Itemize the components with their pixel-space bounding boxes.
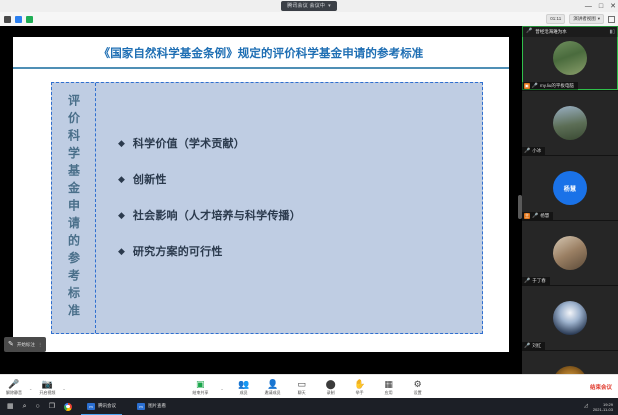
avatar	[553, 236, 587, 270]
avatar	[553, 301, 587, 335]
minimize-button[interactable]: —	[585, 3, 592, 10]
annotate-label: 开始标注	[17, 342, 35, 348]
mic-muted-icon: 🎤	[532, 84, 538, 89]
maximize-button[interactable]: □	[599, 3, 603, 10]
list-item: ◆ 科学价值（学术贡献）	[118, 135, 301, 151]
presentation-slide: 《国家自然科学基金条例》规定的评价科学基金申请的参考标准 评价科学基金申请的参考…	[13, 37, 509, 352]
list-item: ◆ 研究方案的可行性	[118, 243, 301, 259]
participant-tile[interactable]: 杨慧 主 🎤 杨慧	[522, 156, 618, 220]
mic-muted-icon: 🎤	[524, 279, 530, 284]
raise-hand-label: 举手	[356, 390, 364, 395]
members-label: 成员	[240, 390, 248, 395]
meeting-timer: 01:11	[546, 14, 565, 24]
more-dots-icon[interactable]: ⋮	[38, 342, 43, 348]
invite-icon: 👤	[267, 379, 278, 389]
participant-tile[interactable]: 🎤 曾经沧海难为水 ▮▯ ▣ 🎤 my.liu的平板电脑	[522, 26, 618, 90]
bullet-text: 研究方案的可行性	[133, 243, 223, 259]
participant-panel[interactable]: 🎤 曾经沧海难为水 ▮▯ ▣ 🎤 my.liu的平板电脑 🎤 小冰 杨慧 主 🎤	[522, 26, 618, 374]
mic-muted-icon: 🎤	[526, 29, 532, 34]
network-icon[interactable]: ◿	[584, 404, 588, 409]
chevron-up-icon[interactable]: ⌃	[62, 388, 65, 393]
members-button[interactable]: 👥 成员	[235, 379, 253, 395]
app-icon: m	[87, 403, 95, 410]
list-item: ◆ 创新性	[118, 171, 301, 187]
system-tray: ◿ 19:29 2021-11-03	[584, 402, 618, 412]
slide-content-box: 评价科学基金申请的参考标准 ◆ 科学价值（学术贡献） ◆ 创新性 ◆ 社会影响（…	[51, 82, 483, 334]
avatar	[553, 366, 587, 374]
settings-label: 设置	[414, 390, 422, 395]
task-view-icon[interactable]: ❐	[49, 403, 55, 410]
participant-name: 小冰	[532, 148, 541, 154]
host-badge: 主	[524, 213, 530, 219]
vertical-label-text: 评价科学基金申请的参考标准	[68, 94, 80, 322]
invite-button[interactable]: 👤 邀请成员	[264, 379, 282, 395]
windows-start-icon[interactable]: ▦	[7, 403, 14, 410]
view-mode-selector[interactable]: 演讲者视图 ▾	[569, 14, 604, 24]
mic-muted-icon: 🎤	[532, 214, 538, 219]
participant-name: 杨慧	[540, 213, 549, 219]
fullscreen-icon[interactable]	[608, 16, 615, 23]
camera-toggle-label: 开启视频	[39, 390, 55, 395]
participant-sub-name: my.liu的平板电脑	[540, 83, 574, 89]
diamond-bullet-icon: ◆	[118, 211, 125, 220]
participant-tile[interactable]: 🎤 于丁春	[522, 221, 618, 285]
taskbar-app-label: 腾讯会议	[98, 403, 116, 409]
signal-bars-icon: ▮▯	[609, 29, 615, 35]
apps-icon: ▦	[384, 379, 393, 389]
raise-hand-button[interactable]: ✋ 举手	[351, 379, 369, 395]
share-screen-label: 结束共享	[192, 390, 208, 395]
toolbar-center-group: ▣ 结束共享 ⌃ 👥 成员 👤 邀请成员 ▭ 聊天 ⬤ 录制 ✋ 举	[191, 375, 426, 399]
chevron-down-icon[interactable]: ▾	[328, 2, 331, 10]
title-divider	[13, 67, 509, 69]
share-badge: ▣	[524, 83, 530, 89]
participant-footer: 🎤 刘红	[522, 342, 545, 350]
meeting-meta-bar: 01:11 演讲者视图 ▾	[0, 12, 618, 27]
apps-label: 应用	[385, 390, 393, 395]
shared-screen-stage: 《国家自然科学基金条例》规定的评价科学基金申请的参考标准 评价科学基金申请的参考…	[0, 26, 522, 374]
more-icon: ⚙	[414, 379, 422, 389]
tray-clock[interactable]: 19:29 2021-11-03	[593, 402, 613, 412]
gear-icon[interactable]	[4, 16, 11, 23]
share-screen-button[interactable]: ▣ 结束共享	[191, 379, 209, 395]
mic-muted-icon: 🎤	[8, 379, 19, 389]
record-label: 录制	[327, 390, 335, 395]
meeting-window: 腾讯会议 会议中 ▾ — □ ✕ 01:11 演讲者视图 ▾ 《国家自然	[0, 0, 618, 415]
participant-name: 于丁春	[532, 278, 546, 284]
taskbar-app-viewer[interactable]: m 图片查看	[131, 398, 172, 415]
meta-left-icons	[4, 12, 33, 26]
window-title-bar: 腾讯会议 会议中 ▾ — □ ✕	[0, 0, 618, 12]
mic-toggle-button[interactable]: 🎤 解除静音	[5, 379, 23, 395]
participant-footer: ▣ 🎤 my.liu的平板电脑	[522, 82, 578, 90]
window-controls: — □ ✕	[585, 0, 616, 12]
apps-button[interactable]: ▦ 应用	[380, 379, 398, 395]
mic-muted-icon: 🎤	[524, 344, 530, 349]
members-icon: 👥	[238, 379, 249, 389]
info-icon[interactable]	[15, 16, 22, 23]
app-icon: m	[137, 403, 145, 410]
diamond-bullet-icon: ◆	[118, 247, 125, 256]
chat-label: 聊天	[298, 390, 306, 395]
windows-taskbar: ▦ ⌕ ○ ❐ m 腾讯会议 m 图片查看 ◿ 19:29 2021-11-03	[0, 398, 618, 415]
close-button[interactable]: ✕	[610, 3, 616, 10]
toolbar-left-group: 🎤 解除静音 ⌃ 📷 开启视频 ⌃	[5, 375, 66, 399]
taskbar-app-meeting[interactable]: m 腾讯会议	[81, 398, 122, 415]
participant-footer: 🎤 于丁春	[522, 277, 550, 285]
taskbar-app-label: 图片查看	[148, 403, 166, 409]
pen-icon: ✎	[8, 341, 14, 348]
bullet-text: 科学价值（学术贡献）	[133, 135, 245, 151]
meta-right-controls: 01:11 演讲者视图 ▾	[546, 12, 615, 26]
participant-tile[interactable]: 🎤 小冰	[522, 91, 618, 155]
bullet-text: 创新性	[133, 171, 167, 187]
camera-muted-icon: 📷	[42, 379, 53, 389]
participant-name: 曾经沧海难为水	[535, 29, 567, 35]
signal-icon[interactable]	[26, 16, 33, 23]
slide-title: 《国家自然科学基金条例》规定的评价科学基金申请的参考标准	[13, 45, 509, 61]
participant-tile[interactable]: 🎤 刘红	[522, 286, 618, 350]
hand-icon: ✋	[354, 379, 365, 389]
avatar	[553, 106, 587, 140]
chrome-icon[interactable]	[64, 403, 72, 411]
chat-button[interactable]: ▭ 聊天	[293, 379, 311, 395]
annotate-button[interactable]: ✎ 开始标注 ⋮	[4, 337, 46, 352]
toolbar-right-group: 结束会议	[590, 375, 612, 399]
mic-muted-icon: 🎤	[524, 149, 530, 154]
avatar: 杨慧	[553, 171, 587, 205]
participant-tile[interactable]	[522, 351, 618, 374]
list-item: ◆ 社会影响（人才培养与科学传播）	[118, 207, 301, 223]
search-icon[interactable]: ⌕	[23, 403, 27, 410]
meeting-title-pill[interactable]: 腾讯会议 会议中 ▾	[281, 1, 337, 11]
mic-toggle-label: 解除静音	[6, 390, 22, 395]
taskbar-left: ▦ ⌕ ○ ❐ m 腾讯会议 m 图片查看	[0, 398, 172, 415]
share-screen-icon: ▣	[196, 379, 205, 389]
participant-footer: 🎤 小冰	[522, 147, 545, 155]
vertical-label-column: 评价科学基金申请的参考标准	[52, 83, 96, 333]
diamond-bullet-icon: ◆	[118, 175, 125, 184]
invite-label: 邀请成员	[265, 390, 281, 395]
end-meeting-button[interactable]: 结束会议	[590, 383, 612, 391]
participant-name: 刘红	[532, 343, 541, 349]
tray-date: 2021-11-03	[593, 407, 613, 412]
chat-icon: ▭	[297, 379, 306, 389]
bullet-list: ◆ 科学价值（学术贡献） ◆ 创新性 ◆ 社会影响（人才培养与科学传播） ◆ 研…	[118, 135, 301, 259]
record-button[interactable]: ⬤ 录制	[322, 379, 340, 395]
meeting-toolbar: 🎤 解除静音 ⌃ 📷 开启视频 ⌃ ▣ 结束共享 ⌃ 👥 成员 👤 邀请成员	[0, 374, 618, 399]
slide-title-wrap: 《国家自然科学基金条例》规定的评价科学基金申请的参考标准	[13, 45, 509, 61]
diamond-bullet-icon: ◆	[118, 139, 125, 148]
chevron-up-icon[interactable]: ⌃	[29, 388, 32, 393]
chevron-up-icon[interactable]: ⌃	[220, 388, 223, 393]
meeting-title: 腾讯会议 会议中	[287, 2, 325, 10]
avatar	[553, 41, 587, 75]
bullet-text: 社会影响（人才培养与科学传播）	[133, 207, 301, 223]
record-icon: ⬤	[326, 379, 336, 389]
cortana-icon[interactable]: ○	[36, 403, 40, 410]
chevron-down-icon: ▾	[598, 15, 600, 23]
participant-footer: 主 🎤 杨慧	[522, 212, 553, 220]
settings-button[interactable]: ⚙ 设置	[409, 379, 427, 395]
view-mode-label: 演讲者视图	[573, 15, 596, 23]
camera-toggle-button[interactable]: 📷 开启视频	[38, 379, 56, 395]
participant-header: 🎤 曾经沧海难为水 ▮▯	[522, 26, 618, 37]
